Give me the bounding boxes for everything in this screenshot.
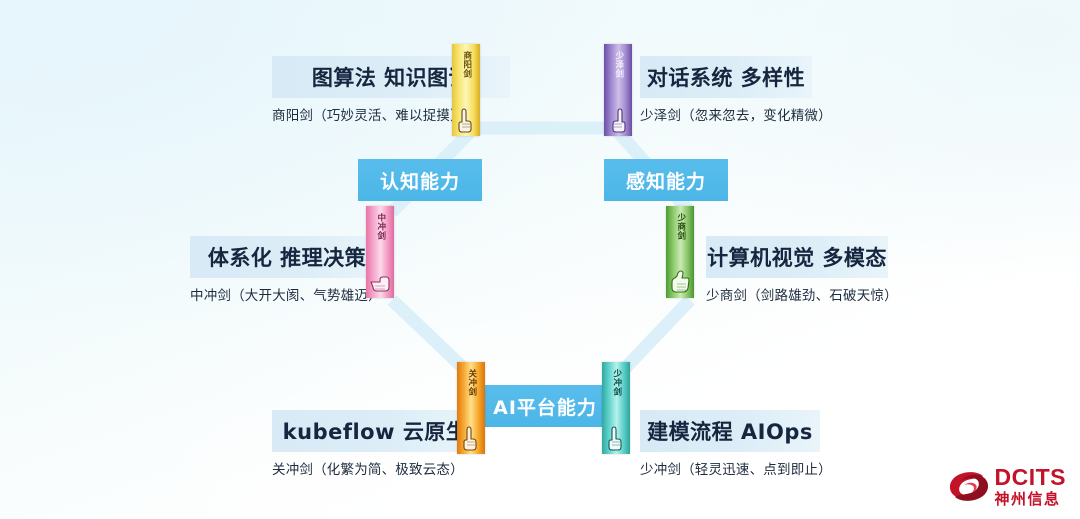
sword-label-zhongchong: 中冲剑 — [375, 213, 385, 240]
node-subtitle-kubeflow: 关冲剑（化繁为简、极致云态） — [272, 458, 464, 478]
node-title-computer-vision: 计算机视觉 多模态 — [707, 242, 887, 272]
node-subtitle-reasoning-decision: 中冲剑（大开大阂、气势雄迈） — [190, 284, 382, 304]
sword-label-shaoze: 少泽剑 — [613, 51, 623, 78]
node-title-band-reasoning-decision: 体系化 推理决策 — [190, 236, 384, 278]
sword-column-shaoshang: 少商剑 — [666, 206, 694, 298]
pointing-finger-icon — [607, 107, 629, 133]
node-title-dialog-system: 对话系统 多样性 — [647, 62, 805, 92]
node-title-band-kubeflow: kubeflow 云原生 — [272, 410, 478, 452]
node-title-reasoning-decision: 体系化 推理决策 — [208, 242, 366, 272]
dcits-logo: DCITS 神州信息 — [946, 466, 1067, 507]
sword-column-shaochong: 少冲剑 — [602, 362, 630, 454]
badge-label-perception: 感知能力 — [626, 167, 706, 194]
logo-english: DCITS — [995, 466, 1067, 489]
badge-cognitive[interactable]: 认知能力 — [358, 159, 482, 201]
badge-label-cognitive: 认知能力 — [380, 167, 460, 194]
sword-label-shaochong: 少冲剑 — [611, 369, 621, 396]
node-title-band-computer-vision: 计算机视觉 多模态 — [706, 236, 888, 278]
node-subtitle-dialog-system: 少泽剑（忽来忽去，变化精微） — [640, 104, 832, 124]
logo-chinese: 神州信息 — [995, 492, 1067, 507]
pointing-finger-icon — [460, 425, 482, 451]
node-subtitle-computer-vision: 少商剑（剑路雄劲、石破天惊） — [706, 284, 898, 304]
node-title-kubeflow: kubeflow 云原生 — [283, 416, 468, 446]
pointing-finger-icon — [455, 107, 477, 133]
pointing-hand-icon — [369, 269, 391, 295]
badge-ai-platform[interactable]: AI平台能力 — [481, 385, 609, 427]
node-title-band-modeling-aiops: 建模流程 AIOps — [640, 410, 820, 452]
node-title-band-dialog-system: 对话系统 多样性 — [640, 56, 812, 98]
node-subtitle-modeling-aiops: 少冲剑（轻灵迅速、点到即止） — [640, 458, 832, 478]
sword-label-guanchong: 关冲剑 — [466, 369, 476, 396]
sword-label-shaoshang: 少商剑 — [675, 213, 685, 240]
sword-column-zhongchong: 中冲剑 — [366, 206, 394, 298]
sword-column-shaoze: 少泽剑 — [604, 44, 632, 136]
sword-column-guanchong: 关冲剑 — [457, 362, 485, 454]
badge-perception[interactable]: 感知能力 — [604, 159, 728, 201]
logo-wordmark: DCITS 神州信息 — [995, 466, 1067, 507]
node-title-modeling-aiops: 建模流程 AIOps — [647, 416, 813, 446]
pointing-finger-icon — [605, 425, 627, 451]
sword-label-shangyang: 商阳剑 — [461, 51, 471, 78]
thumbs-up-icon — [669, 269, 691, 295]
node-subtitle-knowledge-graph: 商阳剑（巧妙灵活、难以捉摸） — [272, 104, 464, 124]
sword-column-shangyang: 商阳剑 — [452, 44, 480, 136]
infographic-canvas: 图算法 知识图谱 商阳剑（巧妙灵活、难以捉摸） 商阳剑 对话系统 多样性 少泽剑… — [0, 0, 1080, 519]
dcits-swirl-icon — [946, 467, 990, 507]
node-title-knowledge-graph: 图算法 知识图谱 — [312, 62, 470, 92]
badge-label-ai-platform: AI平台能力 — [493, 393, 597, 420]
connector-lines — [0, 0, 1080, 519]
